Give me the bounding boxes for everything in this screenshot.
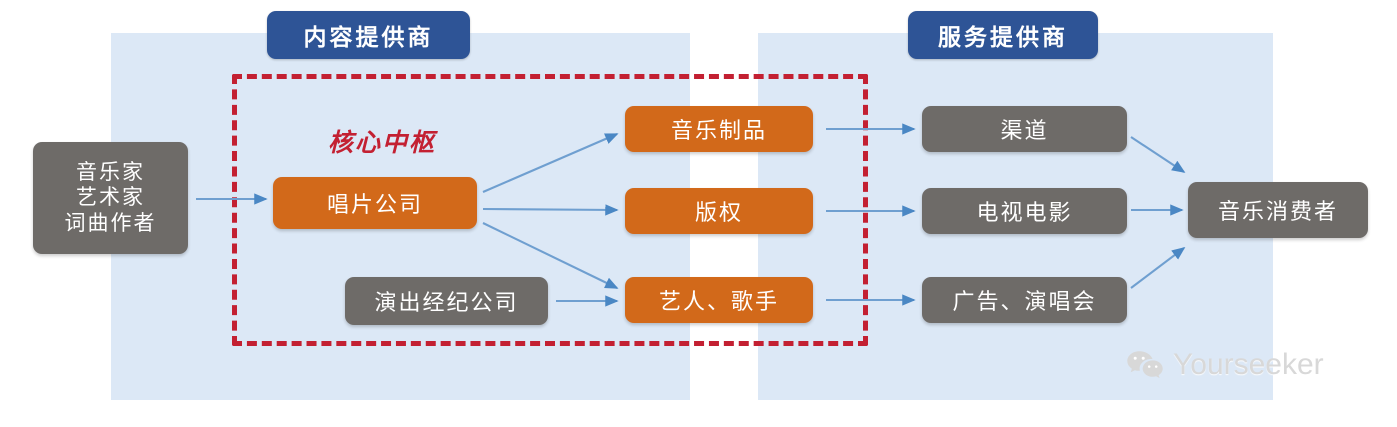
header-chip-content-provider: 内容提供商 xyxy=(267,11,470,59)
node-music-products: 音乐制品 xyxy=(625,106,813,152)
node-ads-concerts: 广告、演唱会 xyxy=(922,277,1127,323)
node-channel: 渠道 xyxy=(922,106,1127,152)
watermark-text: Yourseeker xyxy=(1173,348,1324,382)
node-creators-line-3: 词曲作者 xyxy=(65,211,157,237)
watermark: Yourseeker xyxy=(1126,348,1324,382)
node-creators: 音乐家 艺术家 词曲作者 xyxy=(33,142,188,254)
core-hub-annotation: 核心中枢 xyxy=(328,123,436,159)
node-copyright: 版权 xyxy=(625,188,813,234)
node-performance-agency: 演出经纪公司 xyxy=(345,277,548,325)
node-creators-line-2: 艺术家 xyxy=(76,185,145,211)
node-tv-film: 电视电影 xyxy=(922,188,1127,234)
diagram-canvas: 内容提供商 服务提供商 核心中枢 音乐家 艺术家 词曲作者 唱片公司 演出经纪公… xyxy=(0,0,1397,427)
node-artists-singers: 艺人、歌手 xyxy=(625,277,813,323)
node-record-company: 唱片公司 xyxy=(273,177,477,229)
header-chip-service-provider: 服务提供商 xyxy=(908,11,1098,59)
wechat-icon xyxy=(1126,349,1164,381)
node-music-consumers: 音乐消费者 xyxy=(1188,182,1368,238)
node-creators-line-1: 音乐家 xyxy=(76,160,145,186)
